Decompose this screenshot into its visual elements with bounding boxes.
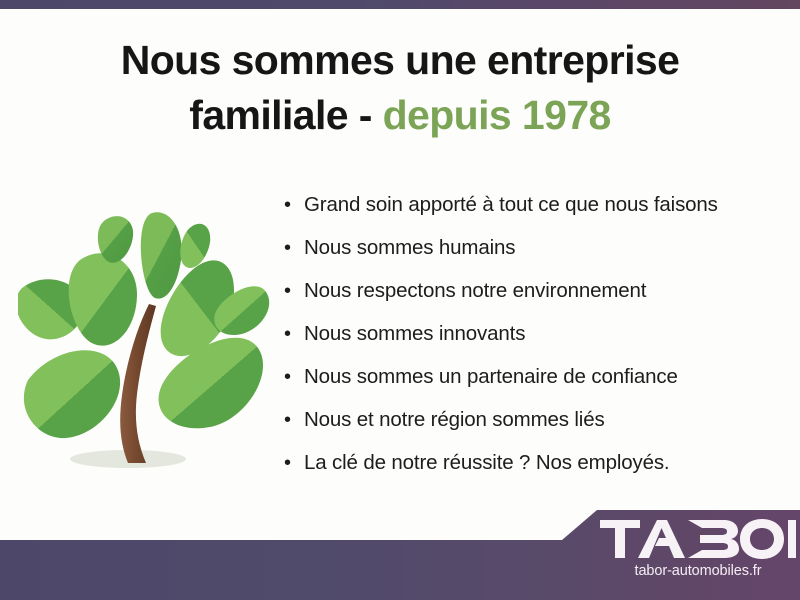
slide-canvas: Nous sommes une entreprise familiale - d… xyxy=(0,0,800,600)
bullet-marker-icon: • xyxy=(284,319,304,349)
list-item-label: Nous sommes humains xyxy=(304,233,515,263)
tree-leaf-top-small-right xyxy=(180,224,210,268)
list-item: • Nous et notre région sommes liés xyxy=(284,405,784,448)
page-title-accent: depuis 1978 xyxy=(383,92,611,138)
page-title-line2: familiale - depuis 1978 xyxy=(0,88,800,143)
brand-logo[interactable]: tabor-automobiles.fr xyxy=(596,512,800,600)
bullet-marker-icon: • xyxy=(284,233,304,263)
list-item: • Grand soin apporté à tout ce que nous … xyxy=(284,190,784,233)
page-title-line1: Nous sommes une entreprise xyxy=(121,37,680,83)
bullet-marker-icon: • xyxy=(284,190,304,220)
list-item-label: La clé de notre réussite ? Nos employés. xyxy=(304,448,669,478)
list-item: • La clé de notre réussite ? Nos employé… xyxy=(284,448,784,491)
page-title: Nous sommes une entreprise familiale - d… xyxy=(0,33,800,142)
tree-leaf-top-center xyxy=(141,212,182,298)
bullet-marker-icon: • xyxy=(284,448,304,478)
tree-illustration xyxy=(18,180,273,490)
bullet-marker-icon: • xyxy=(284,405,304,435)
tree-leaf-top-small-left xyxy=(98,216,133,263)
bullet-marker-icon: • xyxy=(284,362,304,392)
tabor-wordmark-icon xyxy=(600,518,796,560)
list-item-label: Nous respectons notre environnement xyxy=(304,276,646,306)
list-item: • Nous sommes humains xyxy=(284,233,784,276)
website-url[interactable]: tabor-automobiles.fr xyxy=(600,562,796,580)
tree-leaf-upper-left xyxy=(69,253,137,345)
list-item-label: Nous et notre région sommes liés xyxy=(304,405,605,435)
bullet-marker-icon: • xyxy=(284,276,304,306)
list-item-label: Grand soin apporté à tout ce que nous fa… xyxy=(304,190,718,220)
list-item: • Nous respectons notre environnement xyxy=(284,276,784,319)
tree-leaf-lower-left xyxy=(24,350,120,438)
list-item: • Nous sommes un partenaire de confiance xyxy=(284,362,784,405)
value-list: • Grand soin apporté à tout ce que nous … xyxy=(284,190,784,491)
top-accent-bar xyxy=(0,0,800,9)
list-item-label: Nous sommes innovants xyxy=(304,319,525,349)
page-title-line2-plain: familiale - xyxy=(189,92,372,138)
list-item-label: Nous sommes un partenaire de confiance xyxy=(304,362,678,392)
list-item: • Nous sommes innovants xyxy=(284,319,784,362)
